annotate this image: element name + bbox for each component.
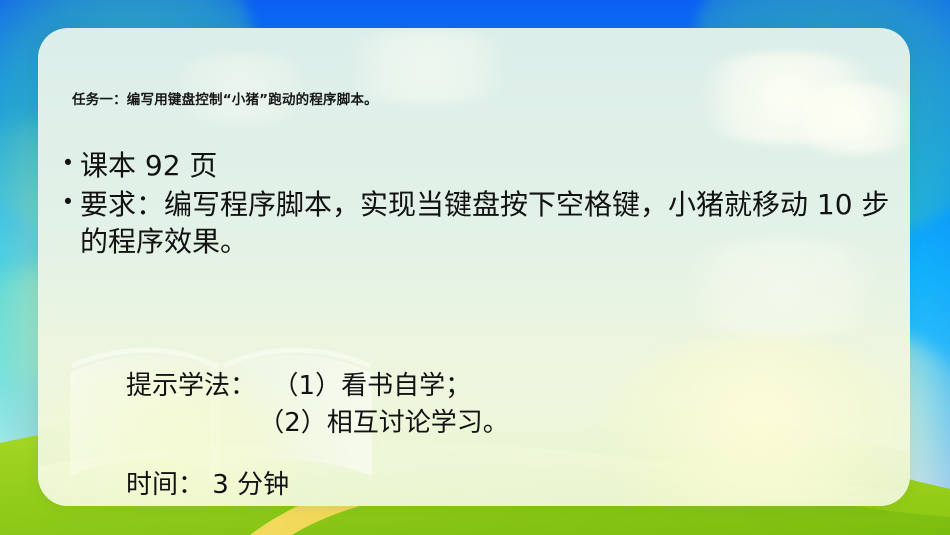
time-allotment: 时间： 3 分钟	[126, 468, 289, 503]
list-item: • 课本 92 页	[56, 148, 896, 185]
bullet-dot-icon: •	[56, 187, 80, 219]
task-title: 任务一：编写用键盘控制“小猪”跑动的程序脚本。	[72, 88, 378, 108]
study-method-block: 提示学法： （1）看书自学； （2）相互讨论学习。	[126, 368, 509, 442]
bullet-text-requirement: 要求：编写程序脚本，实现当键盘按下空格键，小猪就移动 10 步的程序效果。	[80, 187, 896, 261]
study-method-line-2: （2）相互讨论学习。	[126, 405, 509, 442]
bullet-text-textbook-page: 课本 92 页	[80, 148, 896, 185]
bullet-list: • 课本 92 页 • 要求：编写程序脚本，实现当键盘按下空格键，小猪就移动 1…	[56, 148, 896, 263]
study-method-line-1: 提示学法： （1）看书自学；	[126, 368, 509, 405]
content-card: 任务一：编写用键盘控制“小猪”跑动的程序脚本。 • 课本 92 页 • 要求：编…	[38, 28, 910, 506]
bullet-dot-icon: •	[56, 148, 80, 180]
card-content: 任务一：编写用键盘控制“小猪”跑动的程序脚本。 • 课本 92 页 • 要求：编…	[38, 28, 910, 506]
slide: 任务一：编写用键盘控制“小猪”跑动的程序脚本。 • 课本 92 页 • 要求：编…	[0, 0, 950, 535]
list-item: • 要求：编写程序脚本，实现当键盘按下空格键，小猪就移动 10 步的程序效果。	[56, 187, 896, 261]
